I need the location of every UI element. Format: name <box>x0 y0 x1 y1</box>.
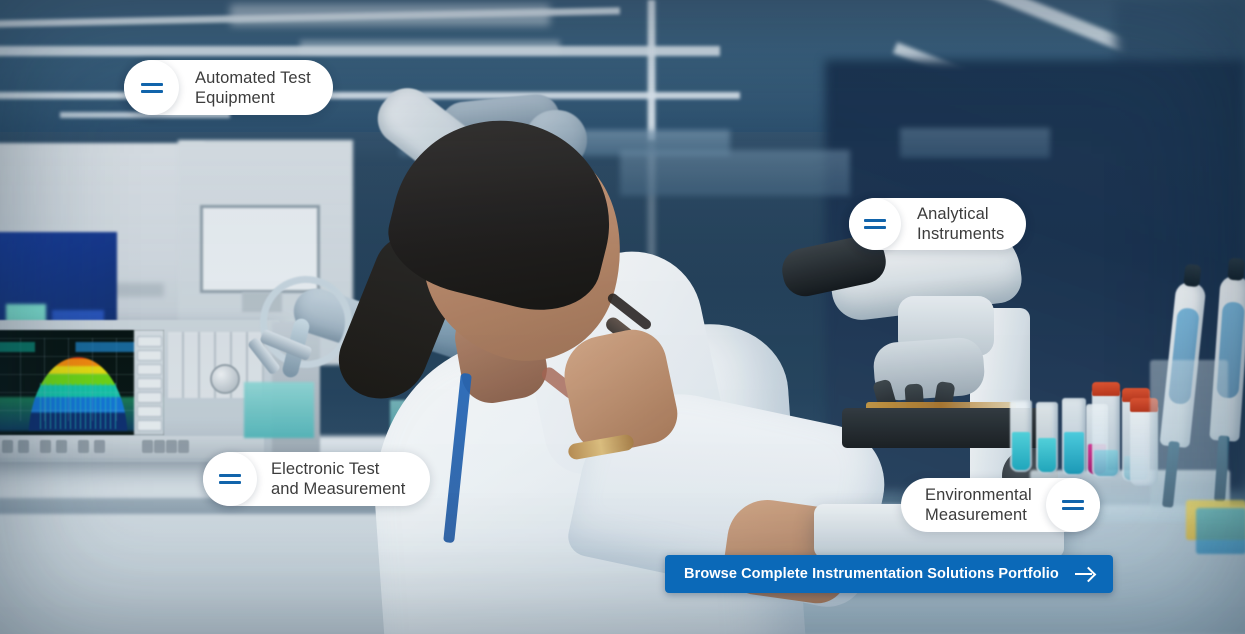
test-tube <box>1036 402 1058 474</box>
category-pill-label: Electronic Test and Measurement <box>271 459 406 499</box>
category-pill-label-line1: Electronic Test <box>271 459 406 479</box>
instrument-knob <box>210 364 240 394</box>
background-shelf <box>900 128 1050 158</box>
category-pill-analytical-instruments[interactable]: Analytical Instruments <box>849 198 1026 250</box>
browse-portfolio-label: Browse Complete Instrumentation Solution… <box>684 566 1059 582</box>
equals-icon[interactable] <box>124 60 179 115</box>
sample-tray <box>244 382 314 438</box>
vial-cap <box>1092 382 1120 396</box>
category-pill-label: Analytical Instruments <box>917 204 1004 244</box>
category-pill-label-line2: Equipment <box>195 88 311 108</box>
equals-icon[interactable] <box>1046 478 1100 532</box>
category-pill-automated-test-equipment[interactable]: Automated Test Equipment <box>124 60 333 115</box>
equals-icon[interactable] <box>849 198 901 250</box>
hero-banner: Automated Test Equipment Analytical Inst… <box>0 0 1245 634</box>
category-pill-environmental-measurement[interactable]: Environmental Measurement <box>901 478 1100 532</box>
pipette-stand <box>1150 360 1228 510</box>
browse-portfolio-button[interactable]: Browse Complete Instrumentation Solution… <box>665 555 1113 593</box>
test-tube <box>1010 400 1032 472</box>
arrow-right-icon <box>1075 567 1095 581</box>
category-pill-label-line2: Measurement <box>925 505 1032 525</box>
category-pill-electronic-test-and-measurement[interactable]: Electronic Test and Measurement <box>203 452 430 506</box>
blue-tip-box <box>1196 508 1245 554</box>
spectrum-analyzer <box>0 320 280 462</box>
category-pill-label: Automated Test Equipment <box>195 68 311 108</box>
category-pill-label-line2: Instruments <box>917 224 1004 244</box>
category-pill-label: Environmental Measurement <box>925 485 1032 525</box>
softkey-column <box>134 330 164 435</box>
category-pill-label-line1: Environmental <box>925 485 1032 505</box>
category-pill-label-line2: and Measurement <box>271 479 406 499</box>
category-pill-label-line1: Analytical <box>917 204 1004 224</box>
equals-icon[interactable] <box>203 452 257 506</box>
sample-vial <box>1092 390 1120 478</box>
category-pill-label-line1: Automated Test <box>195 68 311 88</box>
test-tube <box>1062 398 1086 476</box>
